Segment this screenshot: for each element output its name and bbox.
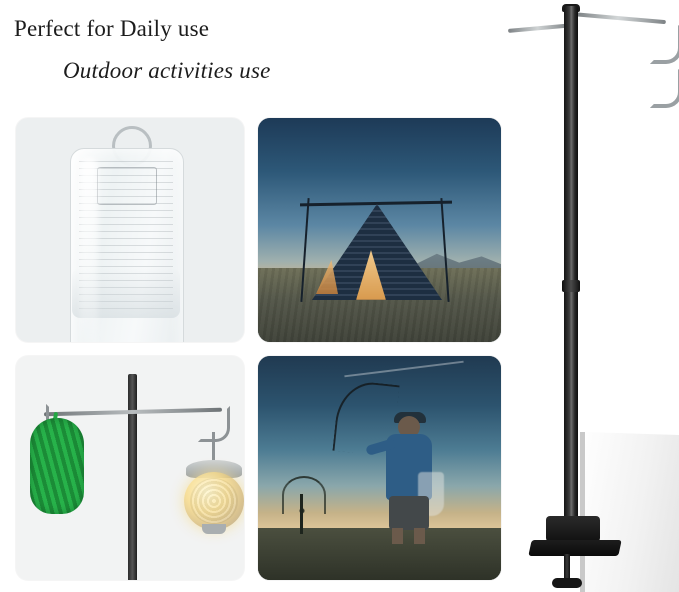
- marketing-image-canvas: Perfect for Daily use Outdoor activities…: [0, 0, 679, 592]
- a-frame-cabin-photo: [258, 118, 501, 342]
- pole-joint-coupler: [562, 280, 580, 292]
- riverbank-foreground: [258, 528, 501, 580]
- product-photo-column: [508, 0, 679, 592]
- base-clamp: [546, 516, 600, 542]
- lantern-base: [202, 524, 226, 534]
- panel-edge: [580, 432, 585, 592]
- base-plate: [528, 540, 621, 556]
- fisherman-leg-right: [414, 528, 425, 544]
- product-hook-upper-right-icon: [650, 22, 679, 64]
- iv-bag-highlight: [80, 158, 98, 342]
- iv-drip-bag-photo: [16, 118, 244, 342]
- white-backdrop-panel: [580, 432, 679, 592]
- fisherman-photo: [258, 356, 501, 580]
- tree-branches: [282, 476, 326, 514]
- base-knob: [552, 578, 582, 588]
- headline-primary: Perfect for Daily use: [14, 16, 209, 42]
- product-hook-lower-right-icon: [650, 66, 679, 108]
- lantern-glass-globe: [184, 472, 244, 530]
- fisherman-leg-left: [392, 528, 403, 544]
- tree-trunk: [300, 494, 303, 534]
- headline-secondary: Outdoor activities use: [63, 58, 271, 84]
- fisherman-shorts: [389, 496, 429, 530]
- product-pole: [564, 6, 578, 546]
- pole-with-rope-and-lantern-photo: [16, 356, 244, 580]
- lantern-pole: [128, 374, 137, 580]
- green-rope-coil: [30, 418, 84, 514]
